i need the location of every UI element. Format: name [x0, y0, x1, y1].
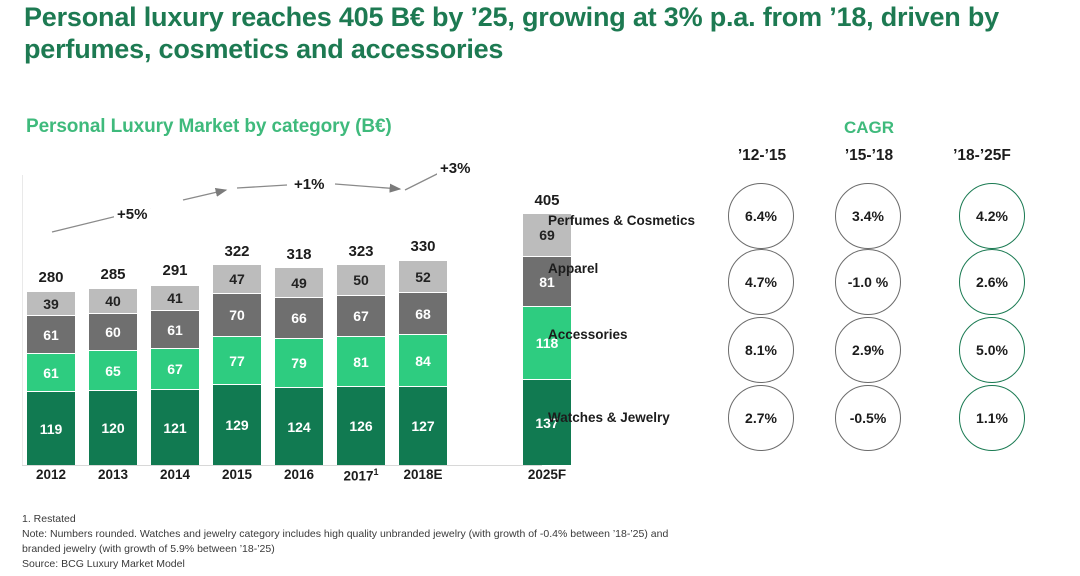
bar-segment: 60	[89, 314, 137, 351]
footnote-source: Source: BCG Luxury Market Model	[22, 557, 1062, 572]
chart-x-axis-line	[22, 465, 542, 466]
bar-segment: 68	[399, 293, 447, 335]
bar-segment: 40	[89, 289, 137, 314]
x-axis-label-2017: 20171	[331, 467, 391, 484]
bar-total-label: 318	[275, 246, 323, 263]
bar-segment: 49	[275, 268, 323, 298]
cagr-value-circle[interactable]: 1.1%	[959, 385, 1025, 451]
bar-group-2012: 396161119	[27, 292, 75, 465]
x-axis-label-2013: 2013	[83, 467, 143, 482]
stacked-bar[interactable]: 506781126	[337, 265, 385, 465]
legend-label-apparel: Apparel	[548, 261, 598, 276]
x-axis-label-2018E: 2018E	[393, 467, 453, 482]
cagr-value-circle[interactable]: 2.9%	[835, 317, 901, 383]
stacked-bar[interactable]: 477077129	[213, 265, 261, 465]
stacked-bar[interactable]: 496679124	[275, 268, 323, 465]
cagr-value-circle[interactable]: 6.4%	[728, 183, 794, 249]
bar-total-label: 291	[151, 262, 199, 279]
growth-label-2012-2015: +5%	[114, 206, 150, 223]
footnote-restated: 1. Restated	[22, 512, 1062, 527]
legend-label-perfumes-cosmetics: Perfumes & Cosmetics	[548, 213, 695, 228]
bar-segment: 127	[399, 387, 447, 465]
stacked-bar[interactable]: 406065120	[89, 289, 137, 465]
bar-segment: 124	[275, 388, 323, 465]
legend-label-accessories: Accessories	[548, 327, 628, 342]
bar-total-label: 285	[89, 266, 137, 283]
bar-segment: 120	[89, 391, 137, 465]
cagr-value-circle[interactable]: 2.7%	[728, 385, 794, 451]
bar-total-label: 405	[523, 192, 571, 209]
bar-segment: 61	[27, 354, 75, 392]
legend-label-watches-jewelry: Watches & Jewelry	[548, 410, 670, 425]
bar-segment: 67	[151, 349, 199, 390]
cagr-value-circle[interactable]: -0.5%	[835, 385, 901, 451]
bar-segment: 66	[275, 298, 323, 339]
cagr-value-circle[interactable]: 4.2%	[959, 183, 1025, 249]
x-axis-label-2014: 2014	[145, 467, 205, 482]
bar-segment: 121	[151, 390, 199, 465]
bar-segment: 81	[337, 337, 385, 387]
cagr-value-circle[interactable]: -1.0 %	[835, 249, 901, 315]
bar-segment: 118	[523, 307, 571, 380]
bar-group-2017: 506781126	[337, 265, 385, 465]
bar-group-2018E: 526884127	[399, 261, 447, 465]
bar-segment: 70	[213, 294, 261, 337]
bar-segment: 65	[89, 351, 137, 391]
page-title: Personal luxury reaches 405 B€ by ’25, g…	[24, 2, 1068, 66]
bar-segment: 47	[213, 265, 261, 294]
cagr-value-circle[interactable]: 4.7%	[728, 249, 794, 315]
bar-total-label: 322	[213, 243, 261, 260]
stacked-bar-chart: +5% +1% +3% 3961611192802012406065120285…	[0, 160, 560, 490]
bar-group-2016: 496679124	[275, 268, 323, 465]
bar-group-2014: 416167121	[151, 286, 199, 465]
footnotes: 1. Restated Note: Numbers rounded. Watch…	[22, 512, 1062, 572]
cagr-column-header-1: ’12-’15	[702, 147, 822, 165]
cagr-column-header-2: ’15-’18	[809, 147, 929, 165]
stacked-bar[interactable]: 526884127	[399, 261, 447, 465]
stacked-bar[interactable]: 416167121	[151, 286, 199, 465]
bar-group-2013: 406065120	[89, 289, 137, 465]
cagr-value-circle[interactable]: 8.1%	[728, 317, 794, 383]
bar-segment: 129	[213, 385, 261, 465]
bar-total-label: 280	[27, 269, 75, 286]
bar-total-label: 330	[399, 238, 447, 255]
cagr-value-circle[interactable]: 5.0%	[959, 317, 1025, 383]
chart-y-axis-line	[22, 175, 23, 465]
x-axis-label-2012: 2012	[21, 467, 81, 482]
bar-segment: 50	[337, 265, 385, 296]
bar-segment: 126	[337, 387, 385, 465]
bar-segment: 61	[151, 311, 199, 349]
growth-label-2015-2018: +1%	[291, 176, 327, 193]
bar-segment: 61	[27, 316, 75, 354]
bar-segment: 84	[399, 335, 447, 387]
x-axis-label-2016: 2016	[269, 467, 329, 482]
bar-group-2015: 477077129	[213, 265, 261, 465]
bar-segment: 119	[27, 392, 75, 465]
bar-segment: 77	[213, 337, 261, 385]
bar-total-label: 323	[337, 243, 385, 260]
cagr-title: CAGR	[834, 118, 904, 138]
x-axis-label-2025F: 2025F	[517, 467, 577, 482]
cagr-column-header-3: ’18-’25F	[922, 147, 1042, 165]
growth-label-2018-2025: +3%	[437, 160, 473, 177]
bar-segment: 39	[27, 292, 75, 316]
cagr-value-circle[interactable]: 2.6%	[959, 249, 1025, 315]
bar-segment: 52	[399, 261, 447, 293]
chart-subtitle: Personal Luxury Market by category (B€)	[26, 116, 392, 138]
x-axis-label-2015: 2015	[207, 467, 267, 482]
bar-segment: 41	[151, 286, 199, 311]
bar-segment: 79	[275, 339, 323, 388]
footnote-note-2: branded jewelry (with growth of 5.9% bet…	[22, 542, 1062, 557]
stacked-bar[interactable]: 396161119	[27, 292, 75, 465]
cagr-value-circle[interactable]: 3.4%	[835, 183, 901, 249]
footnote-note-1: Note: Numbers rounded. Watches and jewel…	[22, 527, 1062, 542]
bar-segment: 67	[337, 296, 385, 337]
